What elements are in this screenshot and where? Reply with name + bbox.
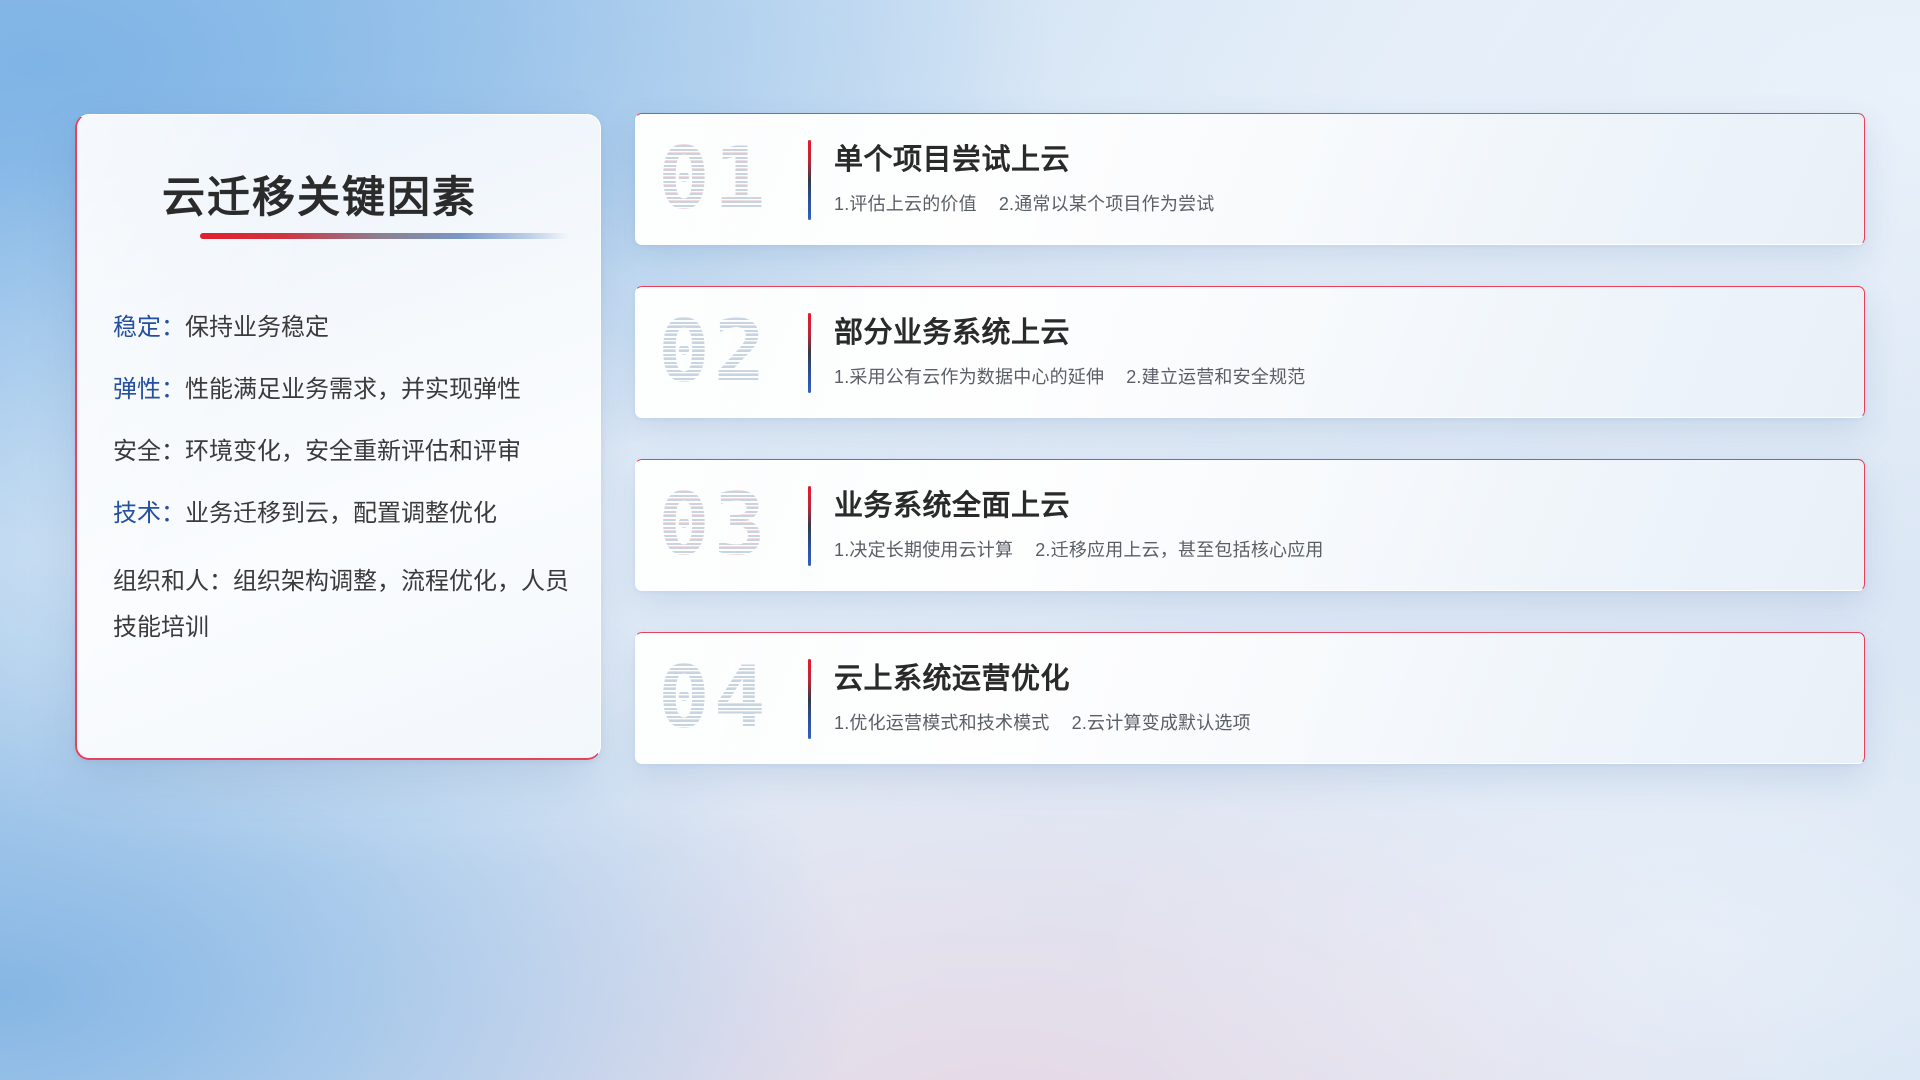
list-item: 安全：环境变化，安全重新评估和评审 — [113, 435, 574, 469]
list-item: 技术：业务迁移到云，配置调整优化 — [113, 497, 574, 531]
step-title: 部分业务系统上云 — [834, 309, 1840, 351]
list-item: 稳定：保持业务稳定 — [113, 311, 574, 345]
step-point-1: 1.决定长期使用云计算 — [834, 540, 1013, 560]
step-card[interactable]: 02 02 部分业务系统上云 1.采用公有云作为数据中心的延伸2.建立运营和安全… — [635, 286, 1865, 418]
factor-label: 弹性： — [113, 376, 185, 403]
key-factors-panel: 云迁移关键因素 稳定：保持业务稳定 弹性：性能满足业务需求，并实现弹性 安全：环… — [75, 114, 601, 760]
factor-value: 业务迁移到云，配置调整优化 — [185, 500, 497, 527]
step-point-2: 2.建立运营和安全规范 — [1126, 367, 1305, 387]
accent-bar — [808, 486, 811, 566]
step-point-1: 1.采用公有云作为数据中心的延伸 — [834, 367, 1104, 387]
factor-value: 环境变化，安全重新评估和评审 — [185, 438, 521, 465]
step-title: 云上系统运营优化 — [834, 655, 1840, 697]
step-title: 业务系统全面上云 — [834, 482, 1840, 524]
migration-steps-list: 01 01 单个项目尝试上云 1.评估上云的价值2.通常以某个项目作为尝试 02… — [635, 113, 1865, 805]
step-card[interactable]: 04 04 云上系统运营优化 1.优化运营模式和技术模式2.云计算变成默认选项 — [635, 632, 1865, 764]
step-number-ghost-overlay: 03 — [658, 475, 770, 575]
factor-value: 性能满足业务需求，并实现弹性 — [185, 376, 521, 403]
step-title: 单个项目尝试上云 — [834, 136, 1840, 178]
list-item: 组织和人：组织架构调整，流程优化，人员技能培训 — [113, 559, 574, 650]
step-card[interactable]: 01 01 单个项目尝试上云 1.评估上云的价值2.通常以某个项目作为尝试 — [635, 113, 1865, 245]
step-body: 云上系统运营优化 1.优化运营模式和技术模式2.云计算变成默认选项 — [834, 655, 1840, 735]
accent-bar — [808, 140, 811, 220]
step-body: 部分业务系统上云 1.采用公有云作为数据中心的延伸2.建立运营和安全规范 — [834, 309, 1840, 389]
step-description: 1.评估上云的价值2.通常以某个项目作为尝试 — [834, 190, 1840, 216]
accent-bar — [808, 659, 811, 739]
step-point-2: 2.迁移应用上云，甚至包括核心应用 — [1035, 540, 1323, 560]
step-point-2: 2.云计算变成默认选项 — [1072, 713, 1251, 733]
factor-label: 稳定： — [113, 314, 185, 341]
step-body: 业务系统全面上云 1.决定长期使用云计算2.迁移应用上云，甚至包括核心应用 — [834, 482, 1840, 562]
factor-label: 安全： — [113, 438, 185, 465]
step-description: 1.采用公有云作为数据中心的延伸2.建立运营和安全规范 — [834, 363, 1840, 389]
accent-bar — [808, 313, 811, 393]
step-point-1: 1.优化运营模式和技术模式 — [834, 713, 1050, 733]
step-number-ghost-overlay: 02 — [658, 302, 770, 402]
title-underline-gradient — [200, 233, 570, 239]
step-point-1: 1.评估上云的价值 — [834, 194, 977, 214]
key-factors-list: 稳定：保持业务稳定 弹性：性能满足业务需求，并实现弹性 安全：环境变化，安全重新… — [113, 311, 574, 679]
step-number-ghost-overlay: 01 — [658, 129, 770, 229]
page-title: 云迁移关键因素 — [162, 163, 477, 225]
step-point-2: 2.通常以某个项目作为尝试 — [999, 194, 1215, 214]
step-description: 1.决定长期使用云计算2.迁移应用上云，甚至包括核心应用 — [834, 536, 1840, 562]
list-item: 弹性：性能满足业务需求，并实现弹性 — [113, 373, 574, 407]
step-number-ghost-overlay: 04 — [658, 648, 770, 748]
factor-label: 组织和人： — [113, 568, 233, 595]
factor-label: 技术： — [113, 500, 185, 527]
step-description: 1.优化运营模式和技术模式2.云计算变成默认选项 — [834, 709, 1840, 735]
step-body: 单个项目尝试上云 1.评估上云的价值2.通常以某个项目作为尝试 — [834, 136, 1840, 216]
step-card[interactable]: 03 03 业务系统全面上云 1.决定长期使用云计算2.迁移应用上云，甚至包括核… — [635, 459, 1865, 591]
factor-value: 保持业务稳定 — [185, 314, 329, 341]
